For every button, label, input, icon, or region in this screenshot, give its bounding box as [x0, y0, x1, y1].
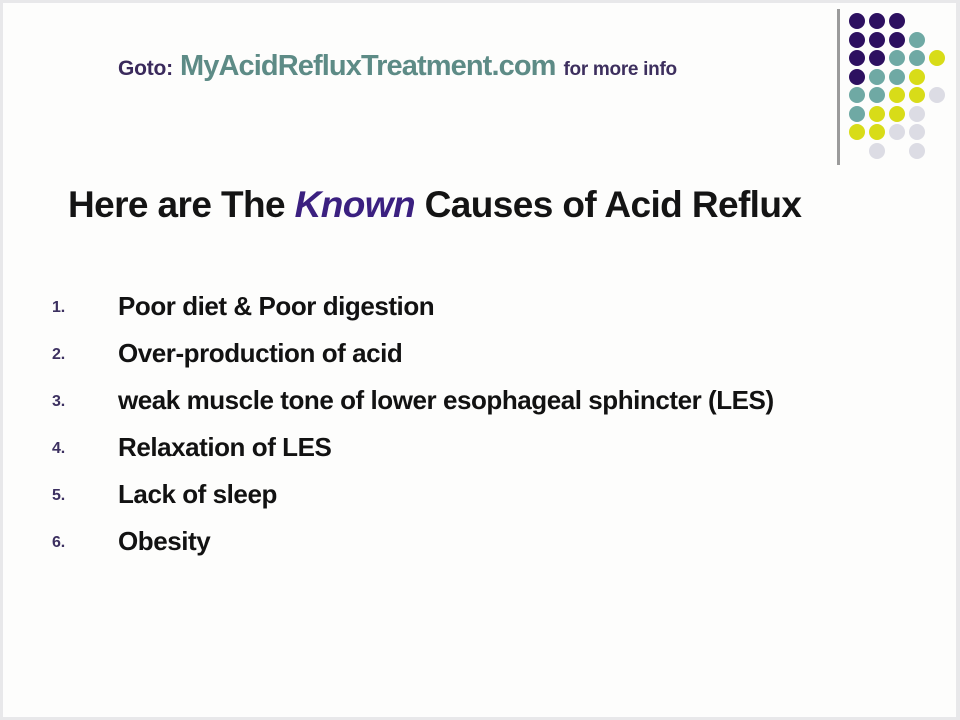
logo-divider-rule [837, 9, 840, 165]
website-domain[interactable]: MyAcidRefluxTreatment.com [180, 50, 556, 82]
logo-dot [909, 50, 925, 66]
list-item-number: 4. [52, 429, 118, 458]
logo-dot [889, 13, 905, 29]
logo-dot [869, 50, 885, 66]
logo-dot [869, 69, 885, 85]
list-item-text: Poor diet & Poor digestion [118, 288, 912, 325]
list-item: 3.weak muscle tone of lower esophageal s… [52, 382, 912, 419]
logo-dot [909, 124, 925, 140]
frame-edge-right [956, 0, 960, 720]
logo-dot [849, 69, 865, 85]
list-item-number: 3. [52, 382, 118, 411]
causes-list: 1.Poor diet & Poor digestion2.Over-produ… [52, 288, 912, 569]
title-emphasis: Known [295, 184, 415, 225]
frame-edge-left [0, 0, 3, 720]
logo-dot [869, 143, 885, 159]
logo-dot [869, 13, 885, 29]
list-item-number: 2. [52, 335, 118, 364]
logo-dot [869, 87, 885, 103]
list-item: 1.Poor diet & Poor digestion [52, 288, 912, 325]
title-before: Here are The [68, 184, 295, 225]
logo-dot [889, 50, 905, 66]
logo-dot [929, 87, 945, 103]
logo-dot [889, 106, 905, 122]
logo-dot [889, 32, 905, 48]
logo-dot [889, 87, 905, 103]
logo-dot [909, 143, 925, 159]
logo-dot [869, 124, 885, 140]
list-item: 4.Relaxation of LES [52, 429, 912, 466]
logo-dot [849, 124, 865, 140]
list-item-text: Relaxation of LES [118, 429, 912, 466]
list-item: 5.Lack of sleep [52, 476, 912, 513]
list-item-text: Over-production of acid [118, 335, 912, 372]
list-item-text: Lack of sleep [118, 476, 912, 513]
more-info-text: for more info [564, 59, 677, 80]
list-item: 2.Over-production of acid [52, 335, 912, 372]
logo-dot [929, 50, 945, 66]
logo-dot [909, 69, 925, 85]
frame-edge-top [0, 0, 960, 3]
logo-dot [909, 32, 925, 48]
list-item-text: Obesity [118, 523, 912, 560]
logo-dot [849, 32, 865, 48]
logo-dot [909, 87, 925, 103]
page-title: Here are The Known Causes of Acid Reflux [68, 185, 801, 226]
presentation-slide: Goto:MyAcidRefluxTreatment.comfor more i… [0, 0, 960, 720]
header-promo-line: Goto:MyAcidRefluxTreatment.comfor more i… [118, 52, 677, 81]
dot-grid-logo [849, 13, 949, 165]
list-item-number: 1. [52, 288, 118, 317]
logo-dot [889, 69, 905, 85]
logo-dot [889, 124, 905, 140]
logo-dot [849, 106, 865, 122]
goto-label: Goto: [118, 57, 173, 80]
logo-dot [849, 50, 865, 66]
list-item: 6.Obesity [52, 523, 912, 560]
list-item-number: 5. [52, 476, 118, 505]
logo-dot [909, 106, 925, 122]
logo-dot [869, 32, 885, 48]
logo-dot [849, 13, 865, 29]
title-after: Causes of Acid Reflux [415, 184, 801, 225]
list-item-number: 6. [52, 523, 118, 552]
logo-dot [849, 87, 865, 103]
logo-dot [869, 106, 885, 122]
list-item-text: weak muscle tone of lower esophageal sph… [118, 382, 912, 419]
